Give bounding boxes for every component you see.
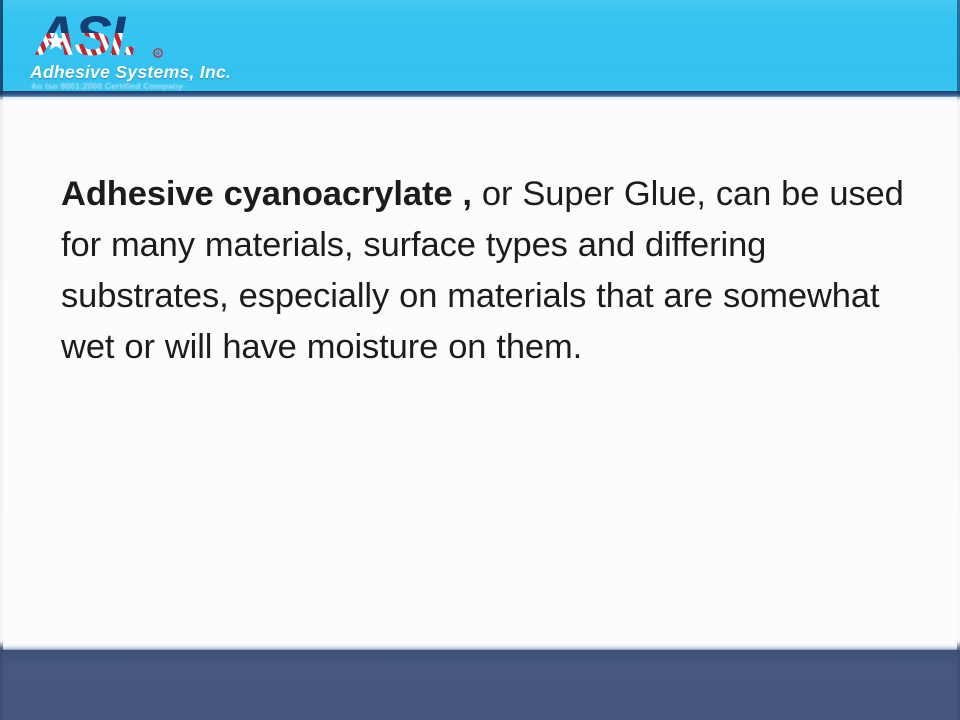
svg-text:R: R	[156, 51, 160, 57]
footer-divider	[0, 643, 960, 650]
header-divider-highlight	[0, 97, 960, 102]
slide-footer-band	[0, 650, 960, 720]
slide-body-text: Adhesive cyanoacrylate , or Super Glue, …	[61, 169, 909, 373]
logo-company-name: Adhesive Systems, Inc.	[30, 62, 256, 83]
asi-logo: ASI. ASI. R Adhesive Systems, Inc. An Is…	[28, 4, 258, 90]
slide-left-edge	[0, 0, 3, 720]
asi-star-stripes-logo-icon: ASI. ASI. R	[34, 6, 164, 62]
logo-iso-tagline: An Iso 9001:2000 Certified Company	[31, 81, 257, 91]
body-lead-phrase: Adhesive cyanoacrylate ,	[61, 175, 472, 213]
presentation-slide: ASI. ASI. R Adhesive Systems, Inc. An Is…	[0, 0, 960, 720]
